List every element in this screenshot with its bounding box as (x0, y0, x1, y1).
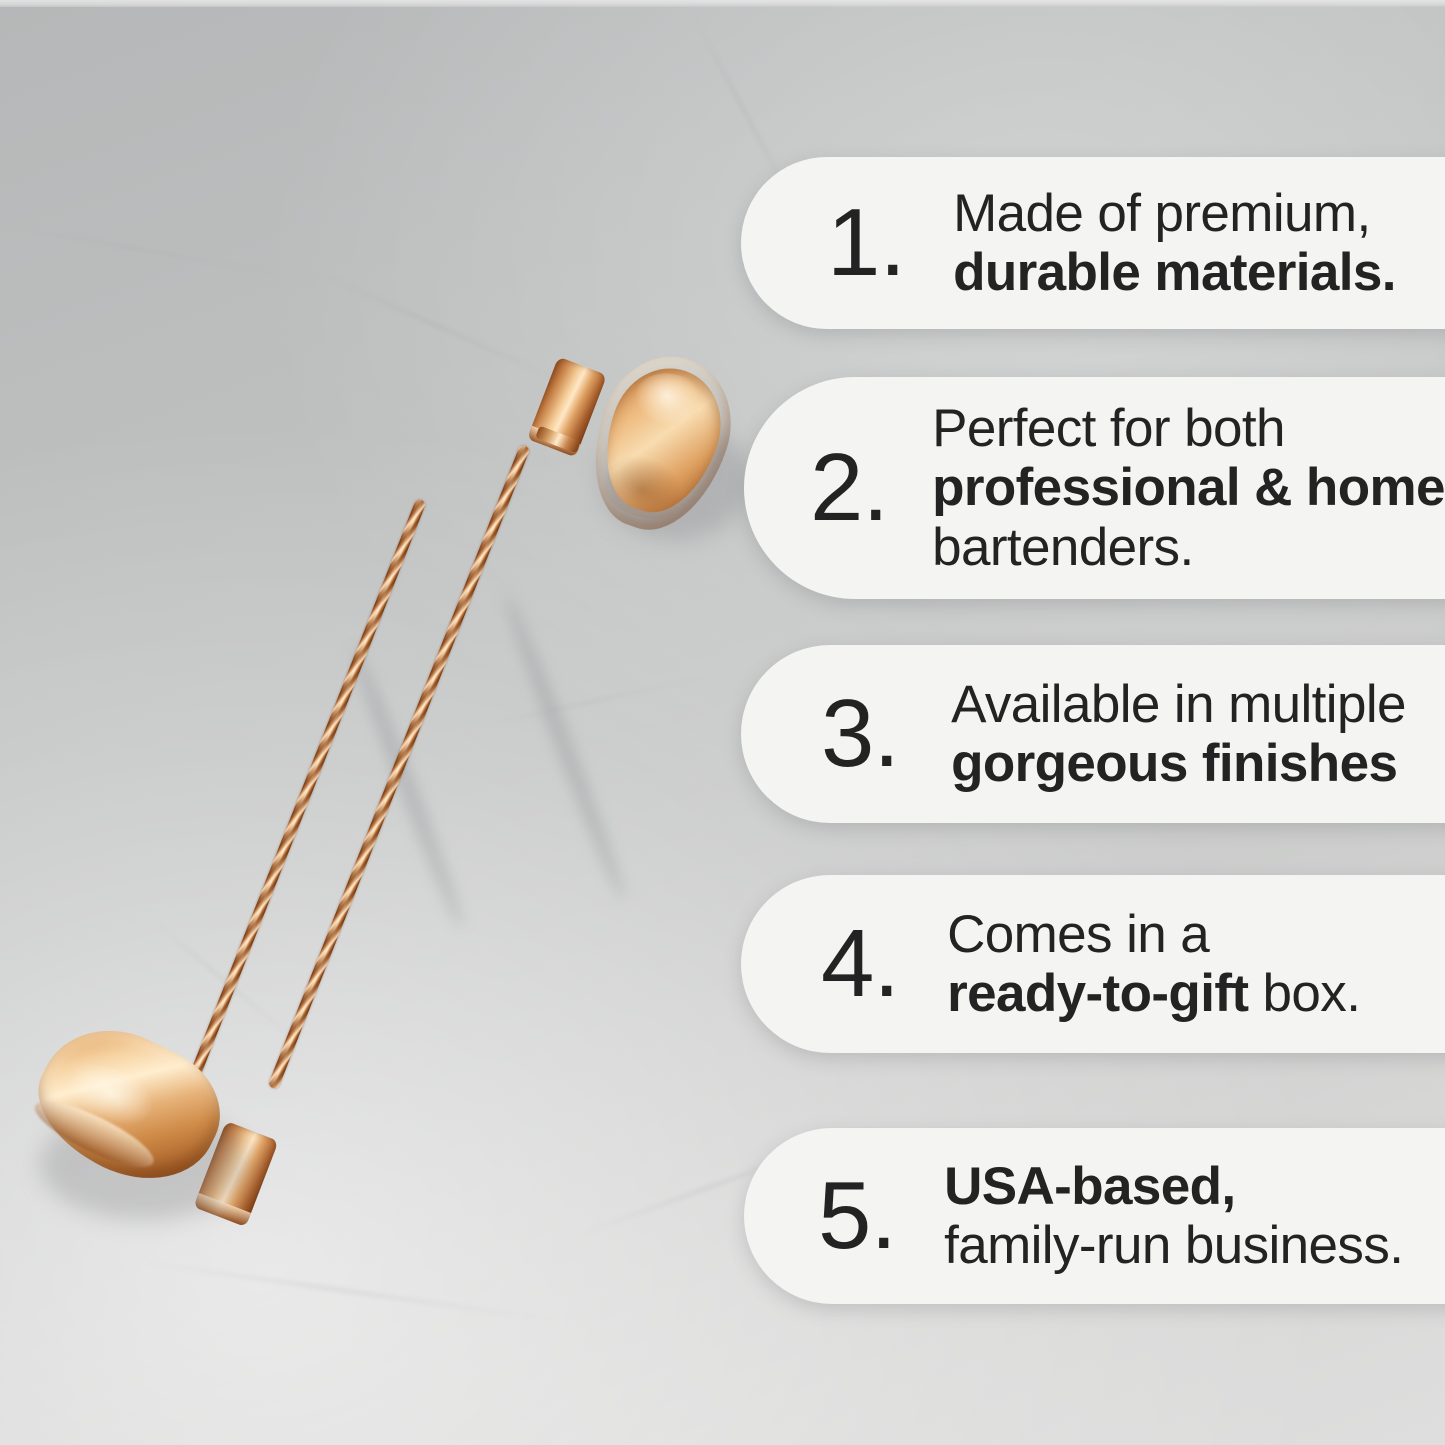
feature-text: USA-based, family-run business. (944, 1157, 1403, 1276)
top-edge-highlight (0, 0, 1445, 7)
feature-number: 1. (827, 197, 905, 289)
feature-line-bold: ready-to-gift (947, 964, 1248, 1023)
feature-line-bold: gorgeous finishes (951, 734, 1397, 793)
feature-line-regular: Perfect for both (932, 399, 1445, 458)
feature-card-5[interactable]: 5. USA-based, family-run business. (744, 1128, 1445, 1304)
feature-number: 5. (818, 1170, 896, 1262)
feature-card-4[interactable]: 4. Comes in a ready-to-gift box. (741, 875, 1445, 1053)
feature-text: Perfect for both professional & home bar… (932, 399, 1445, 577)
feature-card-3[interactable]: 3. Available in multiple gorgeous finish… (741, 645, 1445, 823)
feature-line-regular: Comes in a (947, 905, 1360, 964)
feature-text: Made of premium, durable materials. (953, 184, 1396, 303)
feature-number: 4. (821, 918, 899, 1010)
feature-line-regular: family-run business. (944, 1216, 1403, 1275)
feature-number: 2. (810, 442, 888, 534)
feature-line-bold: professional & home (932, 458, 1445, 517)
feature-line-bold: durable materials. (953, 243, 1396, 302)
feature-line-regular: bartenders. (932, 518, 1445, 577)
feature-line-tail: box. (1248, 964, 1360, 1023)
feature-card-1[interactable]: 1. Made of premium, durable materials. (741, 157, 1445, 329)
feature-line-bold: USA-based, (944, 1157, 1235, 1216)
feature-text: Available in multiple gorgeous finishes (951, 675, 1406, 794)
infographic-canvas: 1. Made of premium, durable materials. 2… (0, 0, 1445, 1445)
feature-line-regular: Available in multiple (951, 675, 1406, 734)
feature-text: Comes in a ready-to-gift box. (947, 905, 1360, 1024)
feature-card-2[interactable]: 2. Perfect for both professional & home … (744, 377, 1445, 599)
feature-line-regular: Made of premium, (953, 184, 1396, 243)
feature-number: 3. (821, 688, 899, 780)
